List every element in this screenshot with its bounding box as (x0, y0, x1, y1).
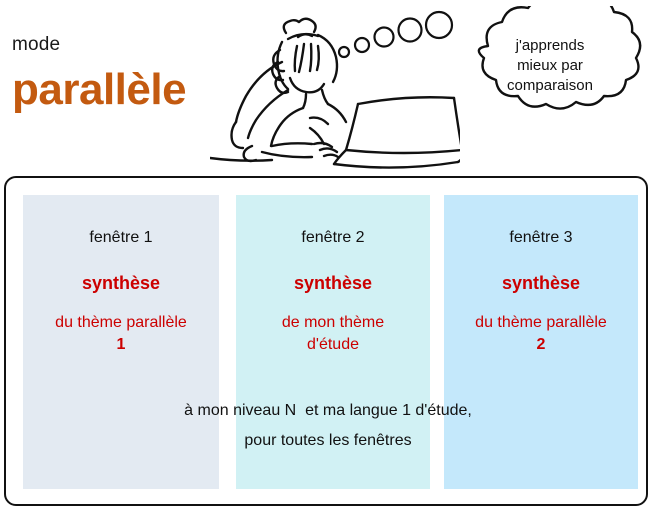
window-description-3-line-2: 2 (444, 334, 638, 356)
window-description-2-line-2: d'étude (236, 334, 430, 356)
panel-caption: à mon niveau N et ma langue 1 d'étude, p… (6, 396, 650, 456)
window-description-3: du thème parallèle 2 (444, 312, 638, 356)
window-column-1-content: fenêtre 1 synthèse du thème parallèle 1 (23, 195, 219, 356)
thought-bubble-line-3: comparaison (470, 76, 630, 96)
window-description-3-line-1: du thème parallèle (444, 312, 638, 334)
window-label-2: fenêtre 2 (236, 230, 430, 246)
window-description-1-line-2: 1 (23, 334, 219, 356)
panel-caption-line-1: à mon niveau N et ma langue 1 d'étude, (6, 396, 650, 426)
panel-caption-line-2: pour toutes les fenêtres (6, 426, 650, 456)
page-title: parallèle (12, 68, 186, 112)
mode-label: mode (12, 35, 60, 54)
header-area: mode parallèle (0, 0, 657, 172)
synthesis-label-1: synthèse (23, 274, 219, 292)
synthesis-label-2: synthèse (236, 274, 430, 292)
window-label-1: fenêtre 1 (23, 230, 219, 246)
window-column-3-content: fenêtre 3 synthèse du thème parallèle 2 (444, 195, 638, 356)
window-description-1-line-1: du thème parallèle (23, 312, 219, 334)
synthesis-label-3: synthèse (444, 274, 638, 292)
person-studying-at-laptop-illustration (210, 0, 460, 172)
thought-bubble-text: j'apprends mieux par comparaison (470, 36, 630, 96)
window-column-2-content: fenêtre 2 synthèse de mon thème d'étude (236, 195, 430, 356)
window-description-2-line-1: de mon thème (236, 312, 430, 334)
window-label-3: fenêtre 3 (444, 230, 638, 246)
windows-columns: fenêtre 1 synthèse du thème parallèle 1 … (6, 178, 650, 508)
window-description-2: de mon thème d'étude (236, 312, 430, 356)
thought-bubble-line-2: mieux par (470, 56, 630, 76)
window-description-1: du thème parallèle 1 (23, 312, 219, 356)
thought-bubble-line-1: j'apprends (470, 36, 630, 56)
windows-panel: fenêtre 1 synthèse du thème parallèle 1 … (4, 176, 648, 506)
